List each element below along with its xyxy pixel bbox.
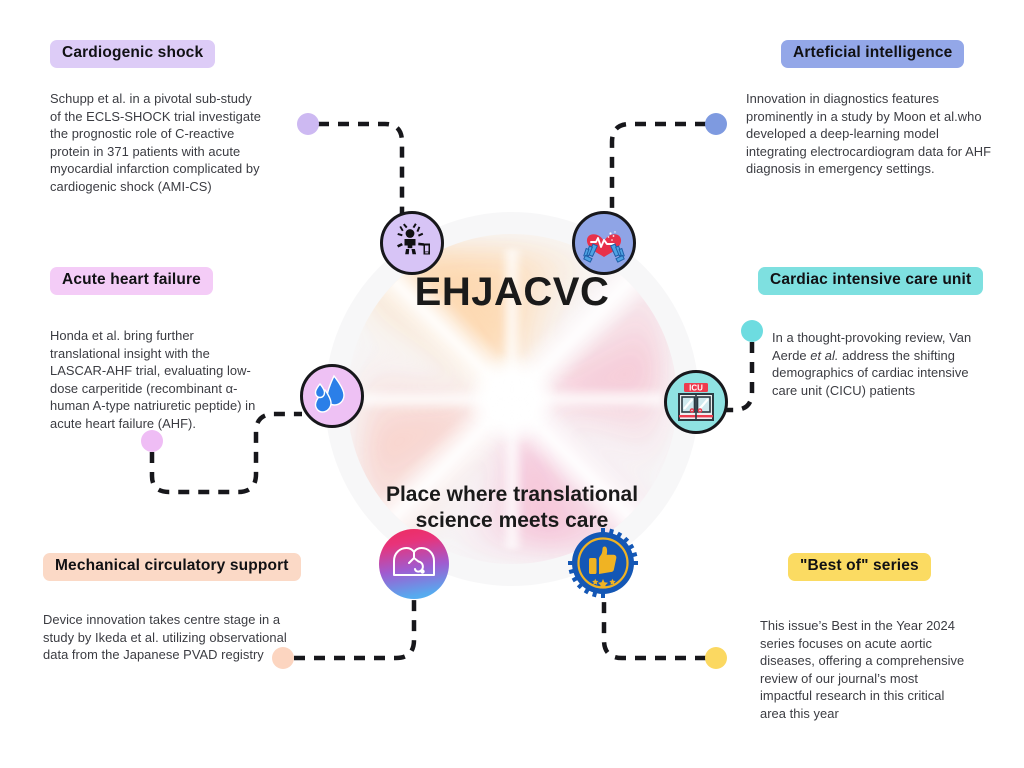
section-body-acute-heart-failure: Honda et al. bring further translational… bbox=[50, 327, 262, 433]
node-mechanical-circulatory-support[interactable] bbox=[379, 529, 449, 599]
central-hub-circle: EHJACVC Place where translational scienc… bbox=[325, 212, 699, 586]
endpoint-dot-mechanical-circulatory-support bbox=[272, 647, 294, 669]
water-droplets-icon bbox=[311, 374, 353, 418]
section-body-artificial-intelligence: Innovation in diagnostics features promi… bbox=[746, 90, 994, 178]
node-best-of-series[interactable] bbox=[568, 528, 638, 598]
section-label-cardiac-intensive-care-unit: Cardiac intensive care unit bbox=[758, 267, 983, 295]
svg-text:ICU: ICU bbox=[689, 383, 703, 392]
connector-best-of-series bbox=[604, 600, 706, 658]
section-artificial-intelligence: Arteficial intelligence Innovation in di… bbox=[746, 40, 994, 178]
section-acute-heart-failure: Acute heart failure Honda et al. bring f… bbox=[50, 267, 262, 433]
section-label-best-of-series: "Best of" series bbox=[788, 553, 931, 581]
cicu-body-italic: et al. bbox=[810, 348, 838, 363]
endpoint-dot-acute-heart-failure bbox=[141, 430, 163, 452]
endpoint-dot-artificial-intelligence bbox=[705, 113, 727, 135]
node-artificial-intelligence[interactable] bbox=[572, 211, 636, 275]
endpoint-dot-cardiac-intensive-care-unit bbox=[741, 320, 763, 342]
section-body-cardiogenic-shock: Schupp et al. in a pivotal sub-study of … bbox=[50, 90, 265, 196]
section-label-acute-heart-failure: Acute heart failure bbox=[50, 267, 213, 295]
thumbs-up-award-badge-icon bbox=[568, 528, 638, 598]
infographic-canvas: EHJACVC Place where translational scienc… bbox=[0, 0, 1024, 768]
section-label-cardiogenic-shock: Cardiogenic shock bbox=[50, 40, 215, 68]
section-cardiac-intensive-care-unit: Cardiac intensive care unit In a thought… bbox=[758, 267, 980, 399]
section-label-mechanical-circulatory-support: Mechanical circulatory support bbox=[43, 553, 301, 581]
section-cardiogenic-shock: Cardiogenic shock Schupp et al. in a piv… bbox=[50, 40, 265, 196]
node-cardiogenic-shock[interactable] bbox=[380, 211, 444, 275]
node-acute-heart-failure[interactable] bbox=[300, 364, 364, 428]
section-body-best-of-series: This issue’s Best in the Year 2024 serie… bbox=[760, 617, 972, 723]
connector-cardiac-intensive-care-unit bbox=[726, 342, 752, 410]
hub-tagline: Place where translational science meets … bbox=[351, 482, 673, 535]
section-body-mechanical-circulatory-support: Device innovation takes centre stage in … bbox=[43, 611, 295, 664]
section-label-artificial-intelligence: Arteficial intelligence bbox=[781, 40, 964, 68]
section-best-of-series: "Best of" series This issue’s Best in th… bbox=[760, 553, 972, 723]
heart-pump-device-icon bbox=[391, 544, 437, 584]
endpoint-dot-cardiogenic-shock bbox=[297, 113, 319, 135]
connector-mechanical-circulatory-support bbox=[294, 596, 414, 658]
icu-entrance-doors-icon: ICU bbox=[672, 378, 720, 426]
hub-title: EHJACVC bbox=[325, 270, 699, 315]
robot-hands-heart-ecg-icon bbox=[580, 219, 628, 267]
connector-artificial-intelligence bbox=[612, 124, 706, 214]
node-cardiac-intensive-care-unit[interactable]: ICU bbox=[664, 370, 728, 434]
section-mechanical-circulatory-support: Mechanical circulatory support Device in… bbox=[43, 553, 295, 664]
electric-shock-person-icon bbox=[389, 220, 435, 266]
section-body-cardiac-intensive-care-unit: In a thought-provoking review, Van Aerde… bbox=[772, 329, 980, 399]
endpoint-dot-best-of-series bbox=[705, 647, 727, 669]
connector-cardiogenic-shock bbox=[318, 124, 402, 214]
